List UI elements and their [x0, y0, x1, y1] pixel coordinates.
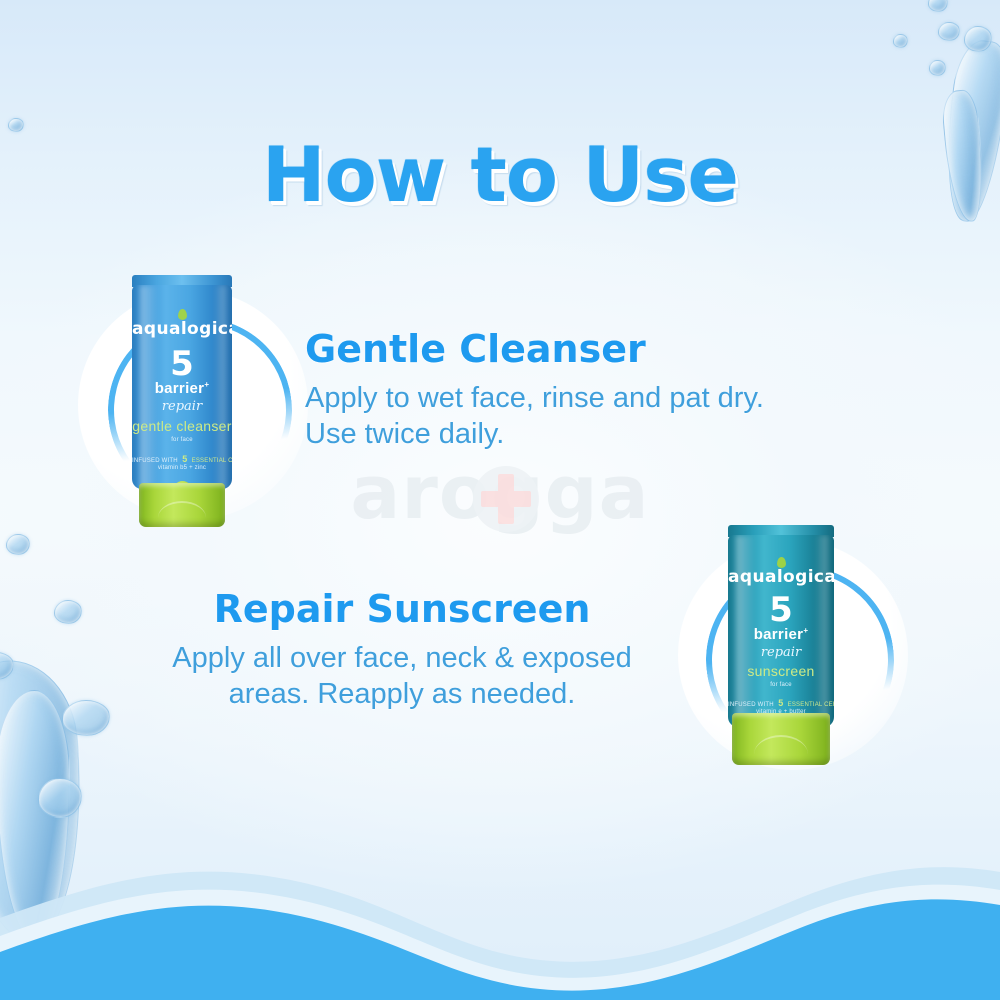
infused-number: 5: [778, 698, 783, 708]
product-barrier-word: barrier+: [728, 626, 834, 643]
product-actives: vitamin b5 + zinc: [132, 465, 232, 471]
product-barrier-word: barrier+: [132, 380, 232, 397]
water-droplet: [893, 34, 908, 48]
brand-name: aqualogica: [728, 567, 834, 587]
step-2-body-line: Apply all over face, neck & exposed: [118, 640, 686, 677]
water-drop-logo-icon: [777, 557, 786, 568]
tube-cap: [139, 483, 225, 527]
infused-pre: INFUSED WITH: [728, 702, 774, 708]
water-droplet: [928, 0, 948, 12]
bottom-wave-decoration: [0, 800, 1000, 1000]
step-1-heading: Gentle Cleanser: [305, 330, 764, 370]
product-name: sunscreen: [728, 663, 834, 679]
step-1-body-line: Apply to wet face, rinse and pat dry.: [305, 380, 764, 417]
step-2-body: Apply all over face, neck & exposed area…: [118, 640, 686, 713]
product-subtitle: for face: [132, 437, 232, 443]
barrier-plus: +: [204, 380, 209, 389]
water-drop-logo-icon: [178, 309, 187, 320]
wave-front-path: [0, 899, 1000, 1000]
step-2-body-line: areas. Reapply as needed.: [118, 676, 686, 713]
product-tube-gentle-cleanser: aqualogica® 5 barrier+ repair gentle cle…: [132, 275, 232, 527]
infused-pre: INFUSED WITH: [132, 458, 178, 464]
step-2-text: Repair Sunscreen Apply all over face, ne…: [118, 590, 686, 713]
product-name: gentle cleanser: [132, 418, 232, 434]
product-barrier-number: 5: [728, 593, 834, 627]
water-droplet: [929, 60, 946, 76]
step-1-body-line: Use twice daily.: [305, 416, 764, 453]
product-repair-word: repair: [728, 645, 834, 660]
step-1-text: Gentle Cleanser Apply to wet face, rinse…: [305, 330, 764, 453]
page-title: How to Use: [0, 130, 1000, 219]
step-1-body: Apply to wet face, rinse and pat dry. Us…: [305, 380, 764, 453]
product-tube-repair-sunscreen: aqualogica® 5 barrier+ repair sunscreen …: [728, 525, 834, 765]
water-droplet: [938, 22, 960, 41]
brand-name: aqualogica: [132, 319, 232, 339]
infused-post: ESSENTIAL CERAMIDES: [788, 702, 834, 708]
water-droplet: [6, 534, 30, 555]
product-barrier-number: 5: [132, 347, 232, 381]
barrier-label: barrier: [754, 626, 804, 643]
water-droplet: [964, 26, 992, 52]
water-droplet: [0, 652, 14, 680]
product-repair-word: repair: [132, 399, 232, 414]
medical-cross-icon: [473, 466, 539, 532]
product-brand: aqualogica®: [728, 567, 834, 587]
barrier-plus: +: [803, 626, 808, 635]
step-2-heading: Repair Sunscreen: [118, 590, 686, 630]
tube-body: aqualogica® 5 barrier+ repair gentle cle…: [132, 285, 232, 489]
infused-post: ESSENTIAL CERAMIDES: [192, 458, 232, 464]
tube-cap: [732, 713, 830, 765]
infused-number: 5: [182, 454, 187, 464]
poster-canvas: How to Use arogga aqualogica® 5 barrier+…: [0, 0, 1000, 1000]
water-droplet: [54, 600, 82, 624]
water-droplet: [62, 700, 110, 736]
tube-body: aqualogica® 5 barrier+ repair sunscreen …: [728, 535, 834, 727]
product-brand: aqualogica®: [132, 319, 232, 339]
barrier-label: barrier: [155, 380, 205, 397]
product-subtitle: for face: [728, 682, 834, 688]
